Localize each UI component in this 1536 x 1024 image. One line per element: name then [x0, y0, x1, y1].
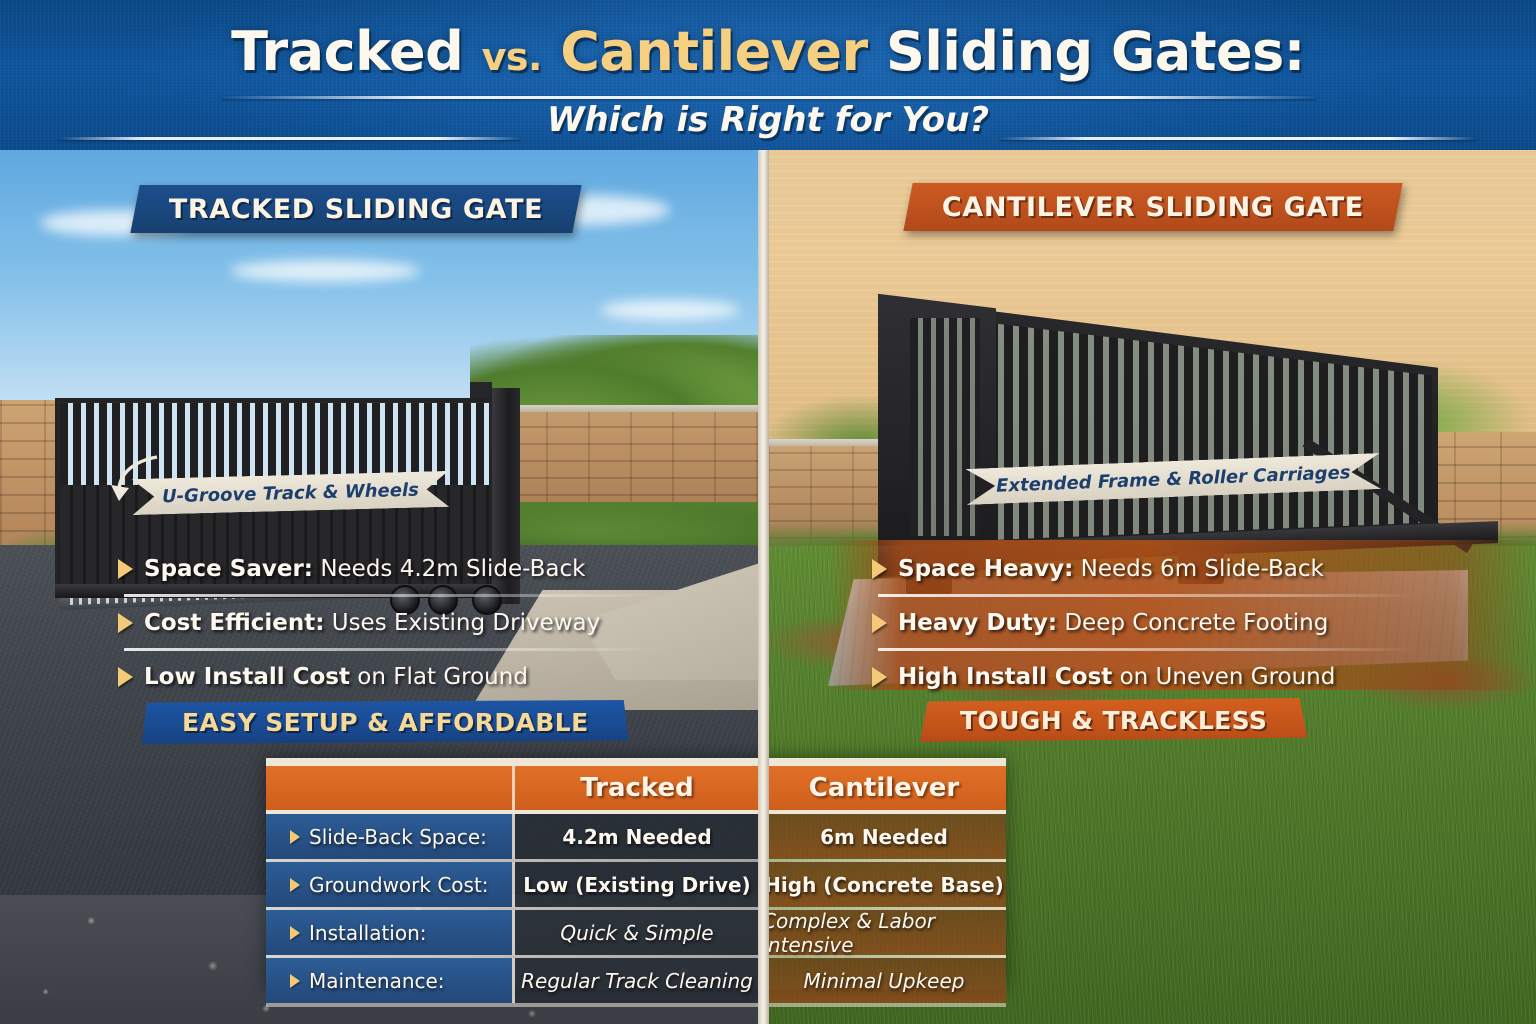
bullet-triangle-icon — [872, 667, 887, 687]
bullet-triangle-icon — [118, 667, 133, 687]
title-rule-top — [222, 96, 1316, 99]
bullet-triangle-icon — [118, 559, 133, 579]
subtitle-rule-left — [60, 137, 520, 140]
cantilever-summary-tag-label: TOUGH & TRACKLESS — [960, 706, 1267, 735]
row-label-cell: Maintenance: — [266, 958, 512, 1003]
bullet-rest: on Uneven Ground — [1112, 664, 1335, 690]
bullet-strong: Low Install Cost — [144, 664, 350, 690]
table-row: Installation: Quick & Simple Complex & L… — [266, 910, 1006, 955]
cloud — [600, 300, 740, 320]
tracked-section-banner: TRACKED SLIDING GATE — [130, 185, 582, 233]
bullet-triangle-icon — [872, 559, 887, 579]
bullet-strong: Cost Efficient: — [144, 610, 324, 636]
row-triangle-icon — [290, 878, 300, 892]
title-vs: vs. — [482, 35, 542, 79]
cantilever-summary-tag: TOUGH & TRACKLESS — [920, 698, 1307, 742]
row-label-cell: Groundwork Cost: — [266, 862, 512, 907]
bullet-rest: on Flat Ground — [350, 664, 528, 690]
right-callout-label: Extended Frame & Roller Carriages — [996, 462, 1351, 497]
list-item: Cost Efficient: Uses Existing Driveway — [118, 600, 678, 646]
bullet-triangle-icon — [118, 613, 133, 633]
bullet-text: Space Heavy: Needs 6m Slide-Back — [898, 556, 1324, 582]
list-item: High Install Cost on Uneven Ground — [872, 654, 1432, 700]
list-item: Heavy Duty: Deep Concrete Footing — [872, 600, 1432, 646]
title-part-cantilever: Cantilever — [542, 20, 868, 83]
bullet-rest: Needs 6m Slide-Back — [1073, 556, 1324, 582]
page-subtitle: Which is Right for You? — [0, 100, 1536, 140]
cantilever-section-banner-label: CANTILEVER SLIDING GATE — [942, 192, 1364, 223]
row-label: Slide-Back Space: — [309, 825, 487, 849]
row-triangle-icon — [290, 830, 300, 844]
gate-post-cap — [470, 382, 492, 398]
bullet-rest: Deep Concrete Footing — [1057, 610, 1328, 636]
table-header-row: Tracked Cantilever — [266, 762, 1006, 814]
row-cantilever-value: Minimal Upkeep — [762, 958, 1006, 1003]
row-cantilever-value: 6m Needed — [762, 814, 1006, 859]
list-separator — [124, 594, 662, 597]
comparison-table: Tracked Cantilever Slide-Back Space: 4.2… — [266, 758, 1006, 990]
bullet-text: Cost Efficient: Uses Existing Driveway — [144, 610, 600, 636]
row-cantilever-value: High (Concrete Base) — [762, 862, 1006, 907]
bullet-text: Heavy Duty: Deep Concrete Footing — [898, 610, 1328, 636]
row-triangle-icon — [290, 974, 300, 988]
panel-divider — [758, 150, 769, 1024]
infographic-root: Tracked vs. Cantilever Sliding Gates: Wh… — [0, 0, 1536, 1024]
bullet-text: High Install Cost on Uneven Ground — [898, 664, 1335, 690]
cantilever-benefits-list: Space Heavy: Needs 6m Slide-Back Heavy D… — [872, 546, 1432, 700]
table-row: Maintenance: Regular Track Cleaning Mini… — [266, 958, 1006, 1003]
list-separator — [124, 648, 662, 651]
row-tracked-value: Low (Existing Drive) — [515, 862, 759, 907]
bullet-strong: Heavy Duty: — [898, 610, 1057, 636]
bullet-strong: High Install Cost — [898, 664, 1112, 690]
bullet-rest: Needs 4.2m Slide-Back — [313, 556, 585, 582]
tracked-benefits-list: Space Saver: Needs 4.2m Slide-Back Cost … — [118, 546, 678, 700]
title-part-tracked: Tracked — [231, 20, 482, 83]
row-cantilever-value: Complex & Labor Intensive — [762, 910, 1006, 955]
row-label: Groundwork Cost: — [309, 873, 489, 897]
list-item: Space Heavy: Needs 6m Slide-Back — [872, 546, 1432, 592]
title-part-sliding-gates: Sliding Gates: — [868, 20, 1305, 83]
bullet-strong: Space Saver: — [144, 556, 313, 582]
tracked-section-banner-label: TRACKED SLIDING GATE — [169, 194, 543, 225]
table-header-cantilever: Cantilever — [762, 766, 1006, 810]
table-header-tracked: Tracked — [515, 766, 759, 810]
table-bottom-edge — [266, 1003, 1006, 1007]
row-tracked-value: 4.2m Needed — [515, 814, 759, 859]
left-callout-label: U-Groove Track & Wheels — [162, 479, 419, 507]
bullet-strong: Space Heavy: — [898, 556, 1073, 582]
list-item: Low Install Cost on Flat Ground — [118, 654, 678, 700]
row-label: Maintenance: — [309, 969, 445, 993]
tracked-summary-tag: EASY SETUP & AFFORDABLE — [142, 700, 629, 744]
bullet-rest: Uses Existing Driveway — [324, 610, 600, 636]
table-row: Groundwork Cost: Low (Existing Drive) Hi… — [266, 862, 1006, 907]
row-tracked-value: Regular Track Cleaning — [515, 958, 759, 1003]
cloud — [230, 260, 420, 282]
table-header-blank — [266, 766, 512, 810]
list-separator — [878, 594, 1416, 597]
list-item: Space Saver: Needs 4.2m Slide-Back — [118, 546, 678, 592]
row-label-cell: Installation: — [266, 910, 512, 955]
cantilever-section-banner: CANTILEVER SLIDING GATE — [903, 183, 1402, 231]
bullet-text: Space Saver: Needs 4.2m Slide-Back — [144, 556, 585, 582]
page-title: Tracked vs. Cantilever Sliding Gates: — [0, 20, 1536, 83]
bullet-text: Low Install Cost on Flat Ground — [144, 664, 528, 690]
row-triangle-icon — [290, 926, 300, 940]
list-separator — [878, 648, 1416, 651]
subtitle-rule-right — [1000, 137, 1476, 140]
row-tracked-value: Quick & Simple — [515, 910, 759, 955]
bullet-triangle-icon — [872, 613, 887, 633]
row-label-cell: Slide-Back Space: — [266, 814, 512, 859]
header-banner: Tracked vs. Cantilever Sliding Gates: Wh… — [0, 0, 1536, 150]
table-row: Slide-Back Space: 4.2m Needed 6m Needed — [266, 814, 1006, 859]
tracked-summary-tag-label: EASY SETUP & AFFORDABLE — [182, 708, 589, 737]
row-label: Installation: — [309, 921, 427, 945]
